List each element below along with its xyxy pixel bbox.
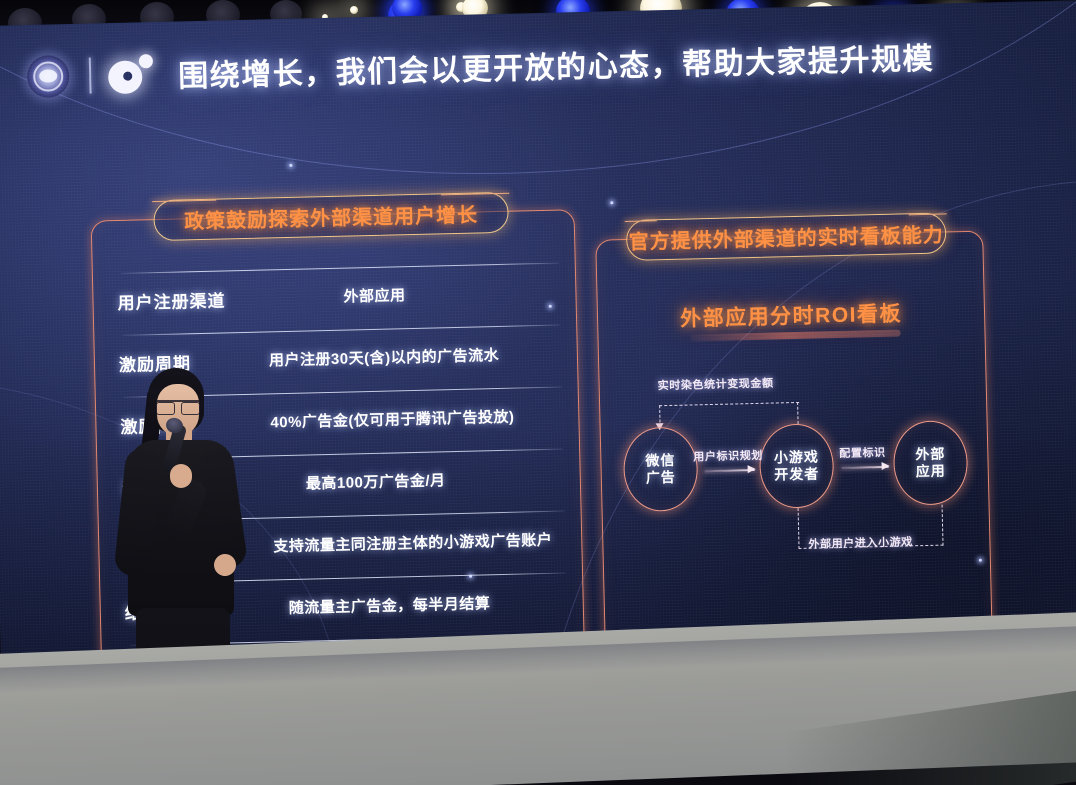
spec-value: 支持流量主同注册主体的小游戏广告账户 <box>273 529 559 557</box>
pill-connector-left <box>152 199 216 202</box>
conference-emblem-icon <box>27 55 70 98</box>
dashboard-panel: 官方提供外部渠道的实时看板能力 外部应用分时ROI看板 实时染色统计变现金额 外… <box>595 231 993 652</box>
flow-top-label: 实时染色统计变现金额 <box>657 375 773 394</box>
pill-connector-left <box>625 220 657 222</box>
table-row: 用户注册渠道 外部应用 <box>117 263 554 335</box>
policy-panel-title: 政策鼓励探索外部渠道用户增长 <box>184 198 479 234</box>
floor-shading <box>784 681 1076 785</box>
flow-dashed-top <box>659 402 799 406</box>
board-heading: 外部应用分时ROI看板 <box>598 296 985 335</box>
flow-diagram: 实时染色统计变现金额 外部用户进入小游戏 微信 广告 小游戏 开发者 外部 应用… <box>600 372 992 571</box>
flow-node-external-app: 外部 应用 <box>893 420 969 506</box>
dashboard-panel-title-pill: 官方提供外部渠道的实时看板能力 <box>626 212 947 261</box>
node-line-2: 应用 <box>916 463 946 481</box>
node-line-1: 小游戏 <box>774 448 819 466</box>
node-line-2: 开发者 <box>774 465 819 483</box>
policy-panel-title-pill: 政策鼓励探索外部渠道用户增长 <box>153 192 509 241</box>
flow-bottom-label: 外部用户进入小游戏 <box>808 533 913 551</box>
node-line-1: 微信 <box>645 452 675 470</box>
flow-dashed-bottom-left <box>798 508 800 549</box>
flow-node-minigame-developer: 小游戏 开发者 <box>759 423 835 509</box>
node-line-2: 广告 <box>646 469 676 487</box>
flow-dashed-top-right <box>797 402 799 424</box>
spec-value: 40%广告金(仅可用于腾讯广告投放) <box>270 405 556 433</box>
dashboard-panel-title: 官方提供外部渠道的实时看板能力 <box>628 218 944 254</box>
spec-value: 最高100万广告金/月 <box>272 467 558 495</box>
flow-dashed-bottom-right <box>942 505 944 546</box>
node-line-1: 外部 <box>915 445 945 463</box>
sparkle-dot <box>610 201 613 204</box>
wechat-minigame-logo-icon <box>108 54 155 95</box>
spec-value: 用户注册30天(含)以内的广告流水 <box>269 343 555 371</box>
spec-value: 随流量主广告金，每半月结算 <box>275 591 561 619</box>
pill-connector-right <box>441 192 509 195</box>
spec-key: 用户注册渠道 <box>117 285 268 314</box>
row-divider <box>121 263 559 275</box>
flow-node-wechat-ads: 微信 广告 <box>623 426 699 512</box>
stage-photo: 围绕增长，我们会以更开放的心态，帮助大家提升规模 政策鼓励探索外部渠道用户增长 … <box>0 0 1076 785</box>
stage-lamp-white <box>350 6 358 14</box>
spec-value: 外部应用 <box>267 281 553 309</box>
flow-arrow-1-label: 用户标识规划 <box>693 447 763 465</box>
presenter-hand <box>170 464 192 488</box>
glasses-icon <box>156 400 200 411</box>
flow-arrow-1-icon <box>705 469 755 472</box>
sparkle-dot <box>289 164 292 167</box>
flow-arrow-2-label: 配置标识 <box>839 444 886 461</box>
flow-arrow-2-icon <box>842 466 889 469</box>
header-divider <box>89 58 92 94</box>
